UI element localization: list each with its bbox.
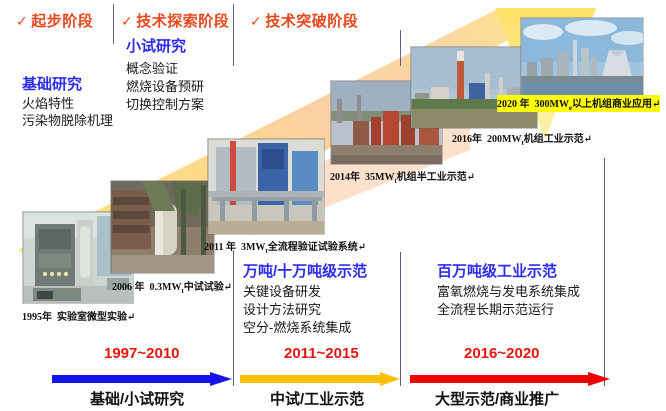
timeline-label-3: 大型示范/商业推广 [435, 388, 559, 409]
photo-2020-caption-power: 300MW [535, 99, 569, 110]
photo-2006-caption-year: 2006 年 [112, 282, 145, 293]
million-ton-heading: 百万吨级工业示范 [437, 260, 557, 281]
photo-2006-caption: 2006 年 0.3MWt中试试验↵ [112, 278, 232, 295]
photo-1995-caption-year: 1995年 [22, 312, 52, 323]
photo-1995-caption-text: 实验室微型实验 [57, 312, 127, 323]
photo-2020 [520, 17, 644, 98]
stage-header-1-label: 起步阶段 [31, 13, 93, 30]
ten-thousand-ton-line-1: 关键设备研发 [243, 281, 321, 300]
stage-header-2: ✓技术探索阶段 [121, 10, 229, 31]
photo-2014-caption-power: 35MW [365, 172, 394, 183]
photo-2020-caption-text: 以上机组商业应用 [572, 99, 652, 110]
photo-2011-caption-power: 3MW [241, 242, 265, 253]
photo-2014-caption-year: 2014年 [330, 172, 360, 183]
photo-2014-caption: 2014年 35MWt机组半工业示范↵ [330, 168, 475, 185]
timeline-arrow-3 [410, 372, 610, 386]
basic-research-line-2: 污染物脱除机理 [22, 110, 113, 129]
divider-line-3 [233, 250, 234, 386]
photo-2020-caption: 2020 年 300MWe以上机组商业应用↵ [497, 95, 660, 112]
slide-canvas: ✓起步阶段 ✓技术探索阶段 ✓技术突破阶段 基础研究 火焰特性 污染物脱除机理 … [0, 0, 666, 411]
ten-thousand-ton-line-2: 设计方法研究 [243, 299, 321, 318]
photo-2016-caption-mark: ↵ [584, 134, 592, 145]
divider-line-4 [400, 30, 401, 66]
photo-2006-caption-text: 中试试验 [184, 282, 224, 293]
ten-thousand-ton-heading: 万吨/十万吨级示范 [243, 260, 367, 281]
divider-line-6 [604, 158, 605, 386]
photo-2016-caption-power: 200MW [487, 134, 521, 145]
timeline-label-2: 中试/工业示范 [270, 388, 364, 409]
photo-1995-caption: 1995年 实验室微型实验↵ [22, 308, 135, 323]
divider-line-1 [113, 4, 114, 44]
timeline-years-2: 2011~2015 [284, 345, 359, 362]
photo-2011-caption-text: 全流程验证试验系统 [268, 242, 358, 253]
check-icon: ✓ [16, 13, 28, 29]
timeline-years-1: 1997~2010 [104, 345, 180, 362]
pilot-research-heading: 小试研究 [126, 35, 186, 56]
photo-1995-caption-mark: ↵ [127, 312, 135, 323]
timeline-label-1: 基础/小试研究 [90, 388, 184, 409]
photo-2011-caption: 2011 年 3MWt全流程验证试验系统↵ [204, 238, 366, 255]
million-ton-line-1: 富氧燃烧与发电系统集成 [437, 281, 580, 300]
photo-2020-caption-year: 2020 年 [497, 99, 530, 110]
pilot-research-line-1: 概念验证 [126, 58, 178, 77]
timeline-years-3: 2016~2020 [464, 345, 540, 362]
photo-2014-caption-mark: ↵ [467, 172, 475, 183]
pilot-research-line-2: 燃烧设备预研 [126, 76, 204, 95]
stage-header-1: ✓起步阶段 [16, 10, 93, 31]
pilot-research-line-3: 切换控制方案 [126, 94, 204, 113]
photo-2016-caption-text: 机组工业示范 [524, 134, 584, 145]
photo-2016 [410, 46, 538, 129]
stage-header-3-label: 技术突破阶段 [265, 13, 358, 30]
photo-2014-caption-text: 机组半工业示范 [397, 172, 467, 183]
stage-header-3: ✓技术突破阶段 [250, 10, 358, 31]
million-ton-line-2: 全流程长期示范运行 [437, 299, 554, 318]
timeline-arrow-1 [52, 372, 232, 386]
photo-2011-caption-mark: ↵ [358, 242, 366, 253]
photo-2006-caption-mark: ↵ [224, 282, 232, 293]
timeline-arrow-2 [240, 372, 400, 386]
ten-thousand-ton-line-3: 空分-燃烧系统集成 [243, 317, 351, 336]
photo-2006-caption-power: 0.3MW [150, 282, 182, 293]
divider-line-5 [400, 252, 401, 386]
check-icon: ✓ [250, 13, 262, 29]
divider-line-2 [233, 4, 234, 66]
photo-2020-caption-mark: ↵ [652, 99, 660, 110]
photo-2016-caption-year: 2016年 [452, 134, 482, 145]
photo-2016-caption: 2016年 200MWt机组工业示范↵ [452, 130, 592, 147]
photo-2011-caption-year: 2011 年 [204, 242, 236, 253]
stage-header-2-label: 技术探索阶段 [136, 13, 229, 30]
photo-2011 [207, 138, 325, 235]
basic-research-heading: 基础研究 [22, 73, 82, 94]
check-icon: ✓ [121, 13, 133, 29]
photo-2006 [110, 180, 215, 274]
